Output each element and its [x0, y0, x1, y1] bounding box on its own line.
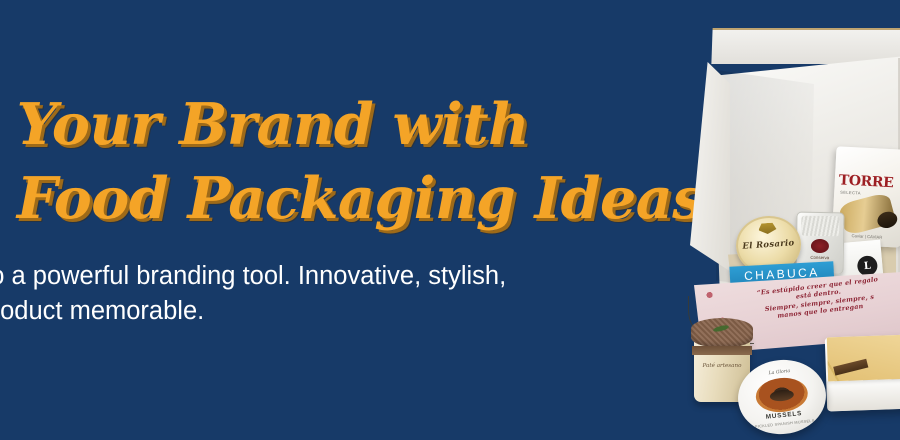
- can-label: Conserva: [799, 255, 841, 261]
- hero-banner: rm Your Brand with ive Food Packaging Id…: [0, 0, 900, 440]
- subtitle-line-2: every product memorable.: [0, 294, 708, 329]
- can-lid: [801, 216, 839, 237]
- bowl-rim: [826, 378, 900, 411]
- brand-mark-icon: L: [857, 255, 879, 277]
- el-rosario-label: El Rosario: [738, 238, 800, 252]
- chip-bag-brand-label: TORRE: [838, 172, 893, 191]
- jar-twine-band: [692, 346, 752, 355]
- can-seal-icon: [811, 239, 829, 253]
- headline-line-1: rm Your Brand with: [0, 91, 529, 158]
- chip-bag-subtitle: SELECTA: [840, 189, 861, 195]
- box-left-flap: [690, 62, 730, 280]
- headline-line-2: ive Food Packaging Ideas: [0, 162, 708, 236]
- box-lid-back-panel: [711, 28, 900, 64]
- cracker-bowl: [825, 334, 900, 411]
- chip-bag-artwork: [838, 192, 897, 236]
- hero-subtitle: ging into a powerful branding tool. Inno…: [0, 259, 708, 329]
- crest-icon: [758, 222, 777, 234]
- jar-label: Paté artesano: [698, 362, 746, 370]
- mussels-artwork-icon: [754, 375, 809, 414]
- jar-fabric-lid: [691, 318, 753, 348]
- hero-copy-block: rm Your Brand with ive Food Packaging Id…: [0, 88, 708, 329]
- product-photo: TORRE SELECTA Caviar | CAVIAR L Conserva…: [676, 0, 900, 440]
- page-title: rm Your Brand with ive Food Packaging Id…: [0, 88, 708, 236]
- subtitle-line-1: ging into a powerful branding tool. Inno…: [0, 259, 708, 294]
